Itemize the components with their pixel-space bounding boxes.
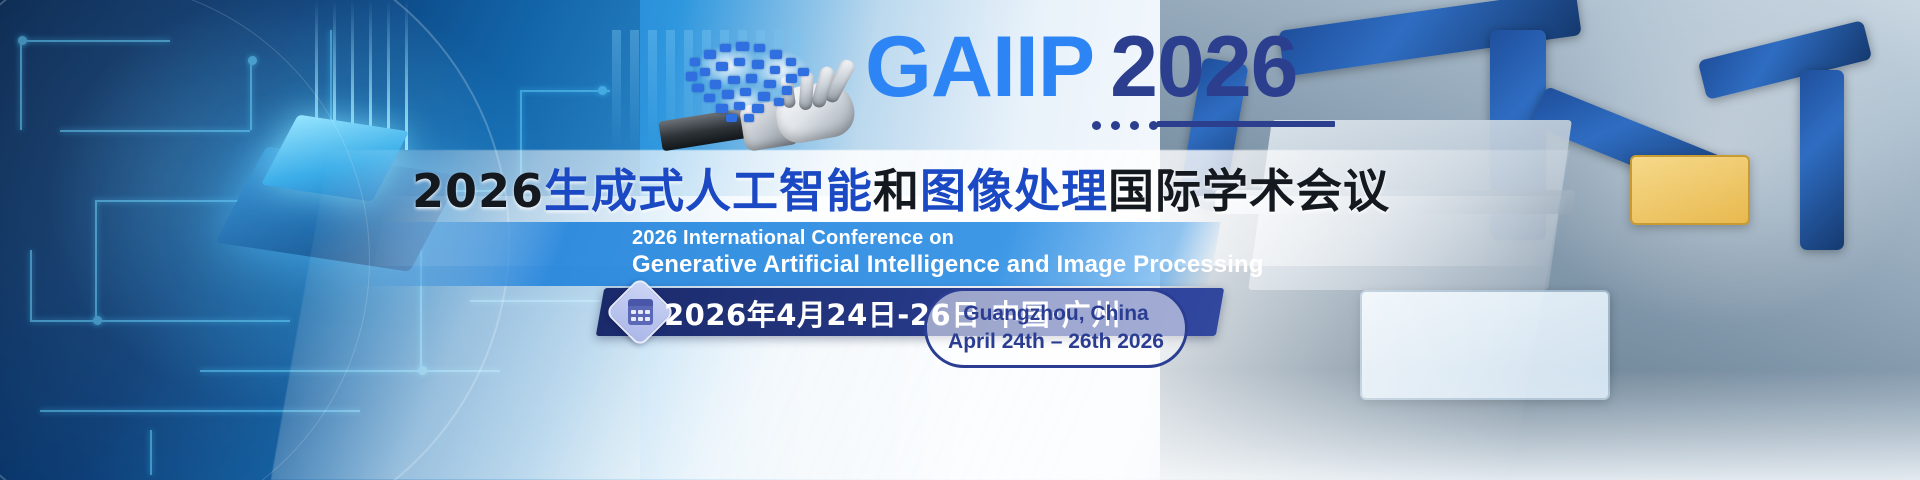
title-segment-imageproc: 图像处理 bbox=[920, 164, 1108, 218]
page-title-chinese: 2026生成式人工智能和图像处理国际学术会议 bbox=[412, 155, 1390, 221]
calendar-icon bbox=[628, 299, 653, 325]
subtitle-english: 2026 International Conference on Generat… bbox=[632, 226, 1264, 280]
robot-hand-icon bbox=[660, 40, 870, 158]
venue-info: Guangzhou, China April 24th – 26th 2026 bbox=[924, 288, 1188, 368]
ai-brain-cloud-icon bbox=[682, 40, 822, 124]
subtitle-line-1: 2026 International Conference on bbox=[632, 226, 1264, 250]
conference-logo: GAIIP2026 bbox=[660, 18, 1220, 158]
conference-banner: GAIIP2026 2026生成式人工智能和图像处理国际学术会议 2026 In… bbox=[0, 0, 1920, 480]
subtitle-line-2: Generative Artificial Intelligence and I… bbox=[632, 250, 1264, 279]
venue-city: Guangzhou, China bbox=[963, 300, 1148, 328]
venue-dates: April 24th – 26th 2026 bbox=[948, 328, 1164, 356]
title-segment-conference: 国际学术会议 bbox=[1108, 164, 1390, 218]
title-segment-year: 2026 bbox=[412, 164, 544, 218]
title-segment-and: 和 bbox=[873, 164, 920, 218]
logo-acronym: GAIIP bbox=[865, 19, 1094, 115]
title-segment-genai: 生成式人工智能 bbox=[544, 164, 873, 218]
logo-wordmark: GAIIP2026 bbox=[865, 24, 1297, 110]
logo-dots-decoration bbox=[1092, 121, 1158, 130]
logo-underline bbox=[1157, 121, 1335, 127]
logo-year: 2026 bbox=[1110, 19, 1297, 115]
